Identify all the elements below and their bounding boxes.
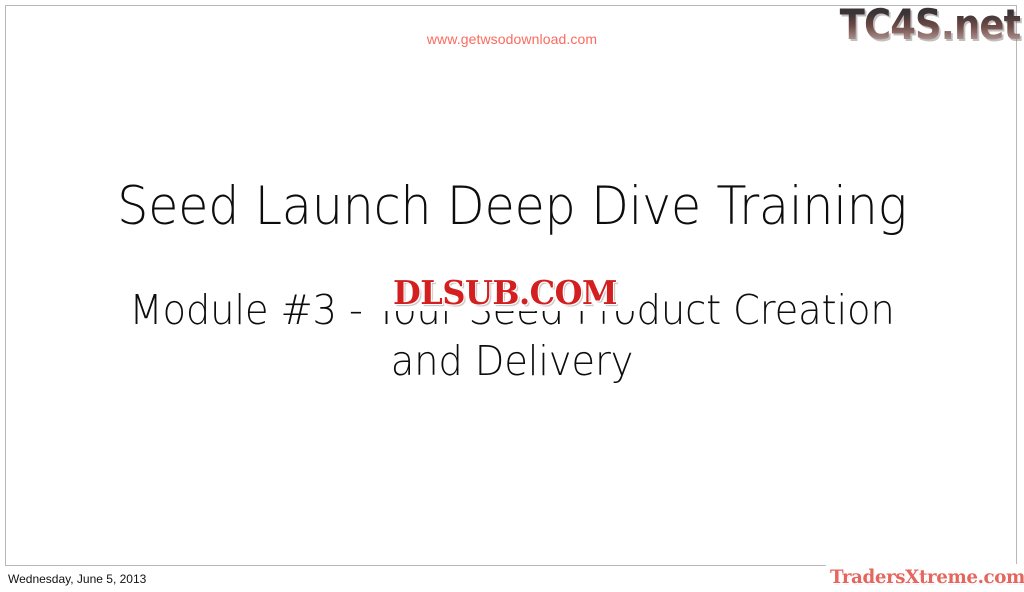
center-watermark: DLSUB.COM xyxy=(372,275,638,311)
center-watermark-text: DLSUB.COM xyxy=(376,275,634,311)
presentation-slide: www.getwsodownload.com TC4S.net Seed Lau… xyxy=(0,0,1024,592)
slide-subtitle-line-2: and Delivery xyxy=(106,336,918,387)
bottom-right-watermark-text: TradersXtreme.com xyxy=(830,564,1020,590)
tc4s-logo: TC4S.net xyxy=(839,1,1020,49)
slide-title: Seed Launch Deep Dive Training xyxy=(92,176,933,238)
slide-date: Wednesday, June 5, 2013 xyxy=(8,572,146,587)
bottom-right-watermark: TradersXtreme.com xyxy=(826,564,1024,590)
